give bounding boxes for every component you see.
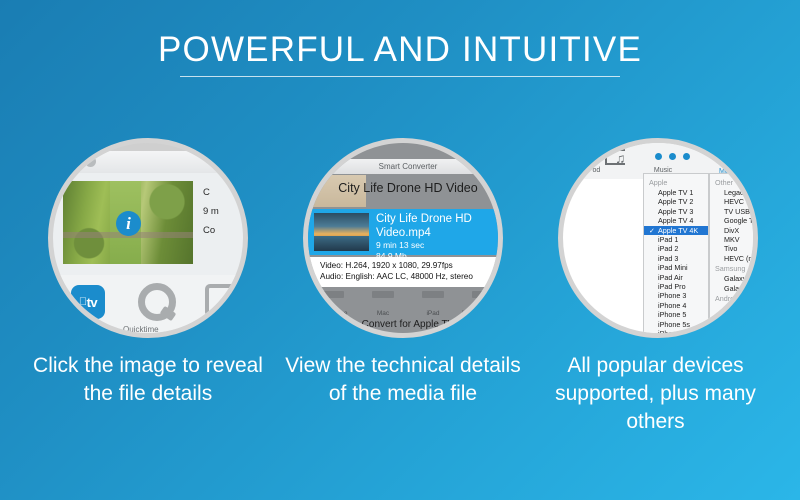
output-target-tabs: Quicktime Mac iPad iPhone or iPod — [308, 291, 503, 320]
device-menu-right-item[interactable]: MKV — [710, 235, 758, 244]
device-menu-left-item[interactable]: iPad Air — [644, 273, 708, 282]
quicktime-shape-icon — [322, 291, 344, 298]
feature-circle-file-details: i C 9 m Co tv Quicktime — [48, 138, 248, 338]
page-title: POWERFUL AND INTUITIVE — [0, 30, 800, 70]
apple-tv-icon[interactable]: tv — [71, 285, 105, 319]
device-menu-right-item[interactable]: HEVC (Quicktime) — [710, 197, 758, 206]
device-menu-left-item[interactable]: iPhone 4 — [644, 301, 708, 310]
quicktime-icon[interactable] — [138, 283, 176, 321]
device-menu-left-item[interactable]: iPhone 5 — [644, 310, 708, 319]
device-menu-left-item[interactable]: iPad Pro — [644, 282, 708, 291]
device-menu-right-item[interactable]: Playstation 3 — [710, 334, 758, 338]
device-menu-left[interactable]: AppleApple TV 1Apple TV 2Apple TV 3Apple… — [643, 173, 709, 338]
audio-details: Audio: English: AAC LC, 48000 Hz, stereo — [320, 271, 503, 282]
device-menu-left-item[interactable]: iPad 1 — [644, 235, 708, 244]
meta-line-3: Co — [203, 221, 248, 240]
music-note-icon: ♫ — [605, 149, 625, 165]
device-menu-left-item[interactable]: Apple TV 2 — [644, 197, 708, 206]
tab-mac[interactable]: Mac — [358, 291, 408, 320]
iphone-shape-icon — [472, 291, 494, 298]
file-name: City Life Drone HD Video.mp4 — [376, 212, 498, 240]
caption-file-details: Click the image to reveal the file detai… — [23, 352, 273, 408]
device-menu-right-item[interactable]: Galaxy S4 — [710, 284, 758, 293]
device-menu-right-item[interactable]: Android Phone — [710, 304, 758, 313]
device-menu-right[interactable]: OtherLegacy AppleHEVC (Quicktime)TV USBG… — [709, 173, 758, 338]
file-heading: City Life Drone HD Video — [308, 181, 503, 195]
device-menu-right-group-other: Other — [710, 177, 758, 188]
device-menu-right-item[interactable]: Legacy Apple — [710, 188, 758, 197]
device-menu-right-group-sony: Sony — [710, 323, 758, 334]
device-menu-left-item[interactable]: Apple TV 3 — [644, 207, 708, 216]
window-title: Smart Converter — [379, 162, 438, 171]
three-dots-icon[interactable] — [655, 153, 690, 160]
feature-circle-device-support: ♫ od Music More ▾ AppleApple TV 1Apple T… — [558, 138, 758, 338]
tab-ipad[interactable]: iPad — [408, 291, 458, 320]
convert-button[interactable]: Convert for Apple TV — [308, 319, 503, 330]
device-menu-right-item[interactable]: HEVC (mp4) — [710, 254, 758, 263]
tab-ipod[interactable]: od — [563, 167, 630, 175]
device-menu-right-item[interactable]: TV USB — [710, 207, 758, 216]
meta-line-2: 9 m — [203, 202, 248, 221]
device-menu-right-group-android: Android — [710, 293, 758, 304]
feature-circle-technical-details: Smart Converter City Life Drone HD Video… — [303, 138, 503, 338]
device-menu-right-group-samsung: Samsung — [710, 263, 758, 274]
device-menu-right-item[interactable]: DivX — [710, 226, 758, 235]
device-menu-left-item[interactable]: iPhone 6 — [644, 329, 708, 338]
device-menu-left-group-apple: Apple — [644, 177, 708, 188]
technical-details-panel: Video: H.264, 1920 x 1080, 29.97fps Audi… — [308, 257, 503, 287]
device-menu-right-item[interactable]: Android Tablet — [710, 313, 758, 322]
caption-device-support: All popular devices supported, plus many… — [528, 352, 783, 436]
device-menu-right-item[interactable]: Google TV — [710, 216, 758, 225]
video-details: Video: H.264, 1920 x 1080, 29.97fps — [320, 260, 503, 271]
file-duration: 9 min 13 sec — [376, 240, 498, 251]
zoom-button[interactable] — [85, 156, 96, 167]
minimize-button[interactable] — [67, 156, 78, 167]
window-titlebar — [48, 151, 248, 173]
device-menu-left-item[interactable]: Apple TV 4K — [644, 226, 708, 235]
device-menu-left-item[interactable]: Apple TV 4 — [644, 216, 708, 225]
mac-shape-icon — [372, 291, 394, 298]
tab-iphone-ipod[interactable]: iPhone or iPod — [458, 291, 503, 320]
title-underline — [180, 76, 620, 77]
device-menu-left-item[interactable]: Apple TV 1 — [644, 188, 708, 197]
file-meta-clipped: C 9 m Co — [203, 183, 248, 240]
device-menu-left-item[interactable]: iPad 2 — [644, 244, 708, 253]
device-menu-right-item[interactable]: Galaxy S3 — [710, 274, 758, 283]
file-thumbnail — [314, 213, 369, 251]
device-menu-left-item[interactable]: iPhone 3 — [644, 291, 708, 300]
tab-quicktime[interactable]: Quicktime — [308, 291, 358, 320]
generic-device-icon[interactable] — [205, 284, 245, 317]
quicktime-label: Quicktime — [123, 325, 159, 334]
info-icon[interactable]: i — [116, 211, 141, 236]
meta-line-1: C — [203, 183, 248, 202]
ipad-shape-icon — [422, 291, 444, 298]
selected-file-info: City Life Drone HD Video.mp4 9 min 13 se… — [376, 212, 498, 262]
device-menu-left-item[interactable]: iPad Mini — [644, 263, 708, 272]
window-titlebar: Smart Converter — [308, 159, 503, 174]
device-menu-right-item[interactable]: Tivo — [710, 244, 758, 253]
device-menu-left-item[interactable]: iPhone 5s — [644, 320, 708, 329]
caption-technical-details: View the technical details of the media … — [278, 352, 528, 408]
device-menu-left-item[interactable]: iPad 3 — [644, 254, 708, 263]
